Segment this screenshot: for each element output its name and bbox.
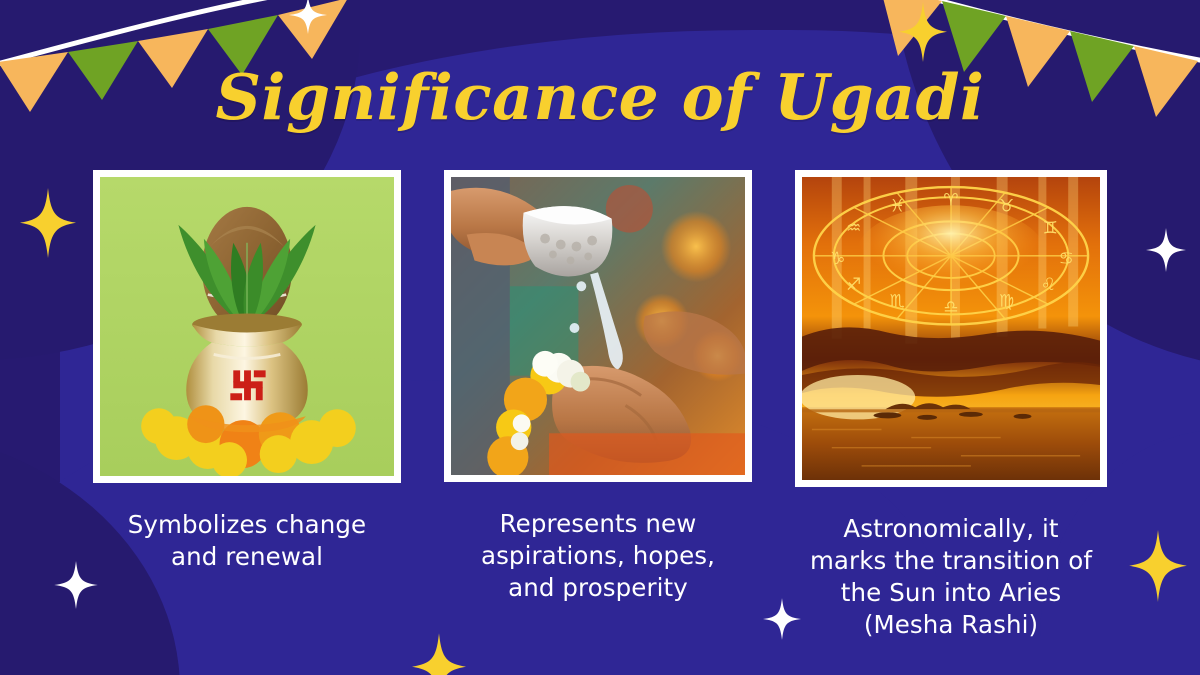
slide-canvas: Significance of Ugadi [0, 0, 1200, 675]
svg-text:♌: ♌ [1041, 275, 1056, 295]
card-represents-new-aspirations: Represents new aspirations, hopes, and p… [444, 170, 752, 604]
card-caption: Astronomically, it marks the transition … [810, 513, 1092, 640]
card-caption: Represents new aspirations, hopes, and p… [481, 508, 715, 604]
card-row: Symbolizes change and renewal [0, 170, 1200, 640]
card-astronomical-transition: ♈ ♉ ♊ ♋ ♌ ♍ ♎ ♏ ♐ ♑ ♒ ♓ [795, 170, 1107, 640]
card-caption: Symbolizes change and renewal [128, 509, 366, 573]
zodiac-wheel-sunset-over-ocean-image: ♈ ♉ ♊ ♋ ♌ ♍ ♎ ♏ ♐ ♑ ♒ ♓ [802, 177, 1100, 480]
photo-frame: ♈ ♉ ♊ ♋ ♌ ♍ ♎ ♏ ♐ ♑ ♒ ♓ [795, 170, 1107, 487]
kalash-coconut-mango-leaves-marigold-image [100, 177, 394, 476]
photo-frame [93, 170, 401, 483]
star-icon [899, 2, 947, 62]
card-symbolizes-change: Symbolizes change and renewal [93, 170, 401, 573]
photo-frame [444, 170, 752, 482]
sparkle-icon [289, 0, 327, 34]
svg-text:♋: ♋ [1059, 249, 1074, 269]
hands-pouring-water-marigold-garland-image [451, 177, 745, 475]
svg-text:♊: ♊ [1043, 218, 1058, 238]
page-title: Significance of Ugadi [0, 60, 1200, 134]
svg-text:♐: ♐ [846, 275, 861, 295]
svg-text:♑: ♑ [830, 249, 845, 269]
svg-text:♒: ♒ [846, 218, 861, 238]
